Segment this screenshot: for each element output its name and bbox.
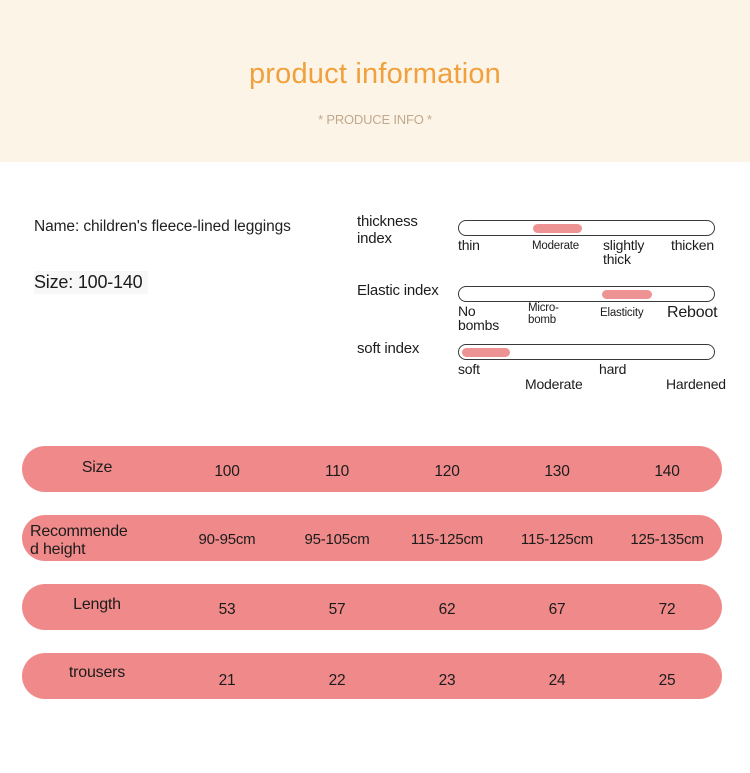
row-label-recommended-height-line2: d height xyxy=(30,541,85,558)
meter-thickness-ticks: thin Moderate slightly thick thicken xyxy=(458,238,720,278)
meter-elastic-marker[interactable] xyxy=(602,290,652,299)
meter-soft-tick-2: hard xyxy=(599,362,626,377)
product-size-highlight: Size: 100-140 xyxy=(34,271,148,294)
meter-elastic-tick-0: No bombs xyxy=(458,304,504,332)
meter-soft-tick-1: Moderate xyxy=(525,377,567,392)
meter-elastic-tick-1: Micro-bomb xyxy=(528,302,572,326)
table-cell: 24 xyxy=(502,653,612,699)
row-label-size: Size xyxy=(22,459,172,477)
meter-thickness-label-line2: index xyxy=(357,230,392,247)
page-header: product information * PRODUCE INFO * xyxy=(0,0,750,162)
row-label-length: Length xyxy=(22,596,172,614)
row-label-recommended-height: Recommende d height xyxy=(30,523,176,559)
table-row: Recommende d height 90-95cm 95-105cm 115… xyxy=(22,515,722,561)
page-subtitle: * PRODUCE INFO * xyxy=(0,112,750,127)
table-cell: 21 xyxy=(172,653,282,699)
table-row: Size 100 110 120 130 140 xyxy=(22,446,722,492)
table-cell: 22 xyxy=(282,653,392,699)
page-title: product information xyxy=(0,58,750,91)
row-label-trousers: trousers xyxy=(22,664,172,682)
product-name: Name: children's fleece-lined leggings xyxy=(34,218,344,236)
row-cells-size: 100 110 120 130 140 xyxy=(172,446,722,492)
table-cell: 67 xyxy=(502,584,612,630)
table-row: Length 53 57 62 67 72 xyxy=(22,584,722,630)
product-info-block: Name: children's fleece-lined leggings S… xyxy=(34,218,344,294)
table-cell: 95-105cm xyxy=(282,515,392,561)
table-cell: 57 xyxy=(282,584,392,630)
meter-soft-tick-3: Hardened xyxy=(666,377,718,392)
meter-soft-track[interactable] xyxy=(458,344,715,360)
row-cells-recommended-height: 90-95cm 95-105cm 115-125cm 115-125cm 125… xyxy=(172,515,722,561)
table-cell: 110 xyxy=(282,446,392,492)
meter-soft-marker[interactable] xyxy=(462,348,510,357)
meter-soft-tick-0: soft xyxy=(458,362,480,377)
table-cell: 90-95cm xyxy=(172,515,282,561)
meter-thickness-tick-0: thin xyxy=(458,238,480,253)
table-cell: 100 xyxy=(172,446,282,492)
row-cells-length: 53 57 62 67 72 xyxy=(172,584,722,630)
table-cell: 25 xyxy=(612,653,722,699)
meter-thickness-label: thickness index xyxy=(357,214,455,248)
table-cell: 115-125cm xyxy=(502,515,612,561)
table-cell: 130 xyxy=(502,446,612,492)
table-cell: 120 xyxy=(392,446,502,492)
meter-thickness-label-line1: thickness xyxy=(357,213,418,230)
meter-thickness-tick-2: slightly thick xyxy=(603,238,655,266)
row-label-recommended-height-line1: Recommende xyxy=(30,523,128,540)
table-cell: 53 xyxy=(172,584,282,630)
table-cell: 62 xyxy=(392,584,502,630)
table-cell: 115-125cm xyxy=(392,515,502,561)
meter-thickness-track[interactable] xyxy=(458,220,715,236)
meter-elastic-tick-3: Reboot xyxy=(667,304,717,321)
meter-soft-label: soft index xyxy=(357,341,467,358)
table-cell: 72 xyxy=(612,584,722,630)
meter-elastic-track[interactable] xyxy=(458,286,715,302)
table-cell: 140 xyxy=(612,446,722,492)
product-size: Size: 100-140 xyxy=(34,272,142,293)
table-cell: 23 xyxy=(392,653,502,699)
meter-elastic-ticks: No bombs Micro-bomb Elasticity Reboot xyxy=(458,304,720,344)
meter-elastic-tick-2: Elasticity xyxy=(600,307,643,319)
table-cell: 125-135cm xyxy=(612,515,722,561)
row-cells-trousers: 21 22 23 24 25 xyxy=(172,653,722,699)
size-table: Size 100 110 120 130 140 Recommende d he… xyxy=(22,446,722,722)
meter-soft-ticks: soft Moderate hard Hardened xyxy=(458,362,720,402)
meter-thickness-tick-1: Moderate xyxy=(532,240,579,252)
table-row: trousers 21 22 23 24 25 xyxy=(22,653,722,699)
meter-thickness-marker[interactable] xyxy=(533,224,582,233)
meter-elastic-label: Elastic index xyxy=(357,283,467,300)
meter-thickness-tick-3: thicken xyxy=(671,238,714,253)
